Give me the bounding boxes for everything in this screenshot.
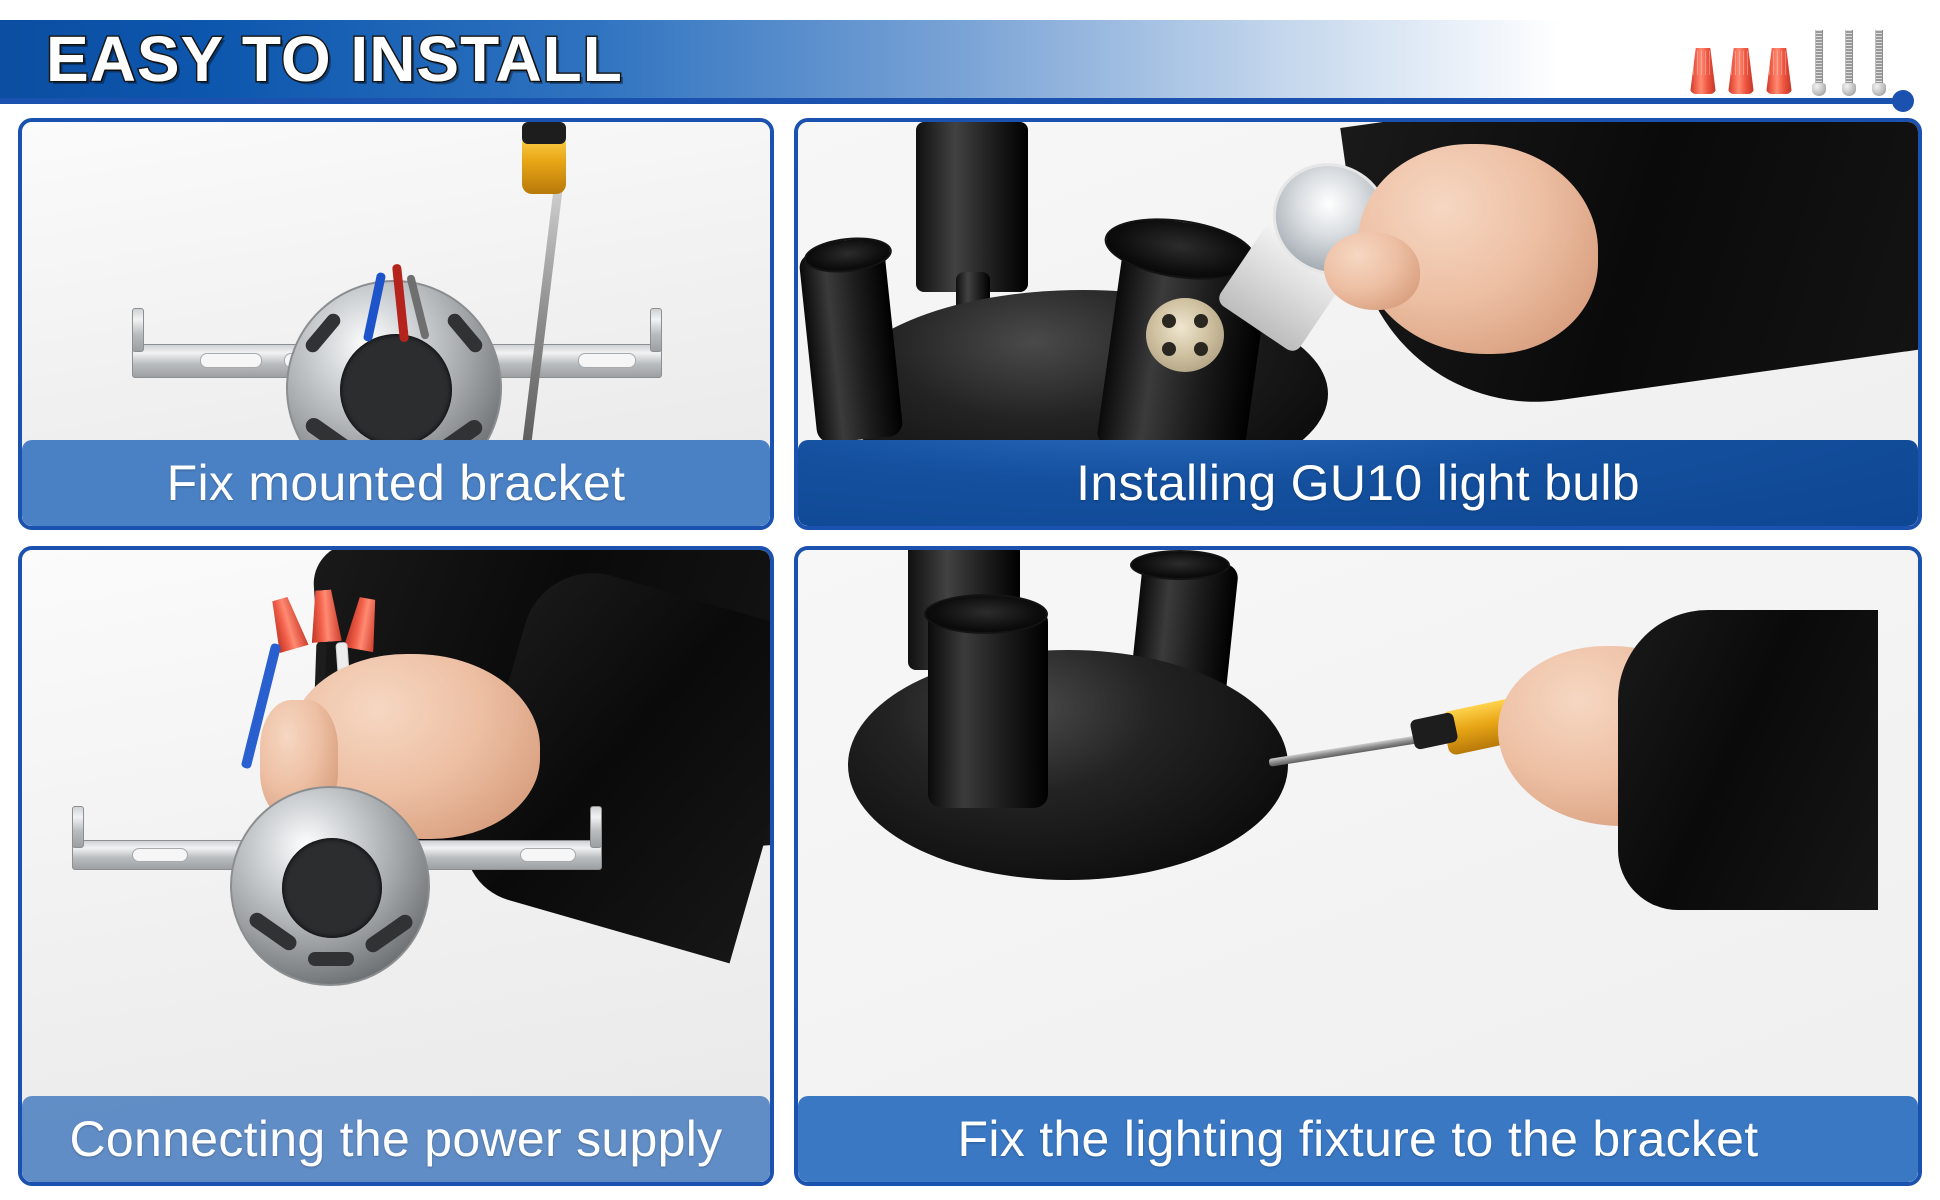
bracket-right-tab	[590, 806, 602, 848]
wire-nut-icon	[1766, 48, 1792, 94]
panel-caption: Fix mounted bracket	[22, 440, 770, 526]
header-rule	[0, 98, 1898, 104]
panel-connecting-power-supply[interactable]: Connecting the power supply	[18, 546, 774, 1186]
round-mounting-plate	[230, 786, 430, 986]
step-panel-grid: Fix mounted bracket	[18, 118, 1922, 1186]
screw-icon	[1842, 30, 1856, 98]
fixture-base-disc	[848, 650, 1288, 880]
screw-icon	[1812, 30, 1826, 98]
photo-connecting-power-supply	[22, 550, 770, 1182]
panel-installing-gu10-bulb[interactable]: Installing GU10 light bulb	[794, 118, 1922, 530]
panel-caption: Connecting the power supply	[22, 1096, 770, 1182]
spotlight-head-left	[928, 608, 1048, 808]
bracket-slot	[200, 353, 262, 368]
panel-fix-fixture-to-bracket[interactable]: Fix the lighting fixture to the bracket	[794, 546, 1922, 1186]
fixture-pole	[916, 122, 1028, 292]
spotlight-mouth-left	[924, 594, 1048, 634]
bracket-left-tab	[132, 308, 144, 352]
screwdriver-cap	[522, 122, 566, 144]
wire-nut-icon	[1728, 48, 1754, 94]
sleeve-arm	[1618, 610, 1878, 910]
photo-fix-fixture-to-bracket	[798, 550, 1918, 1182]
spotlight-mouth-right	[1130, 550, 1230, 580]
panel-caption: Installing GU10 light bulb	[798, 440, 1918, 526]
panel-caption: Fix the lighting fixture to the bracket	[798, 1096, 1918, 1182]
bracket-slot	[132, 848, 188, 862]
hardware-parts-group	[1690, 22, 1900, 98]
screw-icon	[1872, 30, 1886, 98]
panel-fix-mounted-bracket[interactable]: Fix mounted bracket	[18, 118, 774, 530]
bracket-slot	[578, 353, 636, 368]
gu10-socket	[1146, 298, 1224, 372]
bracket-right-tab	[650, 308, 662, 352]
page-title: EASY TO INSTALL	[46, 22, 623, 96]
wire-nut-icon	[1690, 48, 1716, 94]
bracket-left-tab	[72, 806, 84, 848]
header: EASY TO INSTALL	[0, 0, 1940, 110]
bracket-slot	[520, 848, 576, 862]
